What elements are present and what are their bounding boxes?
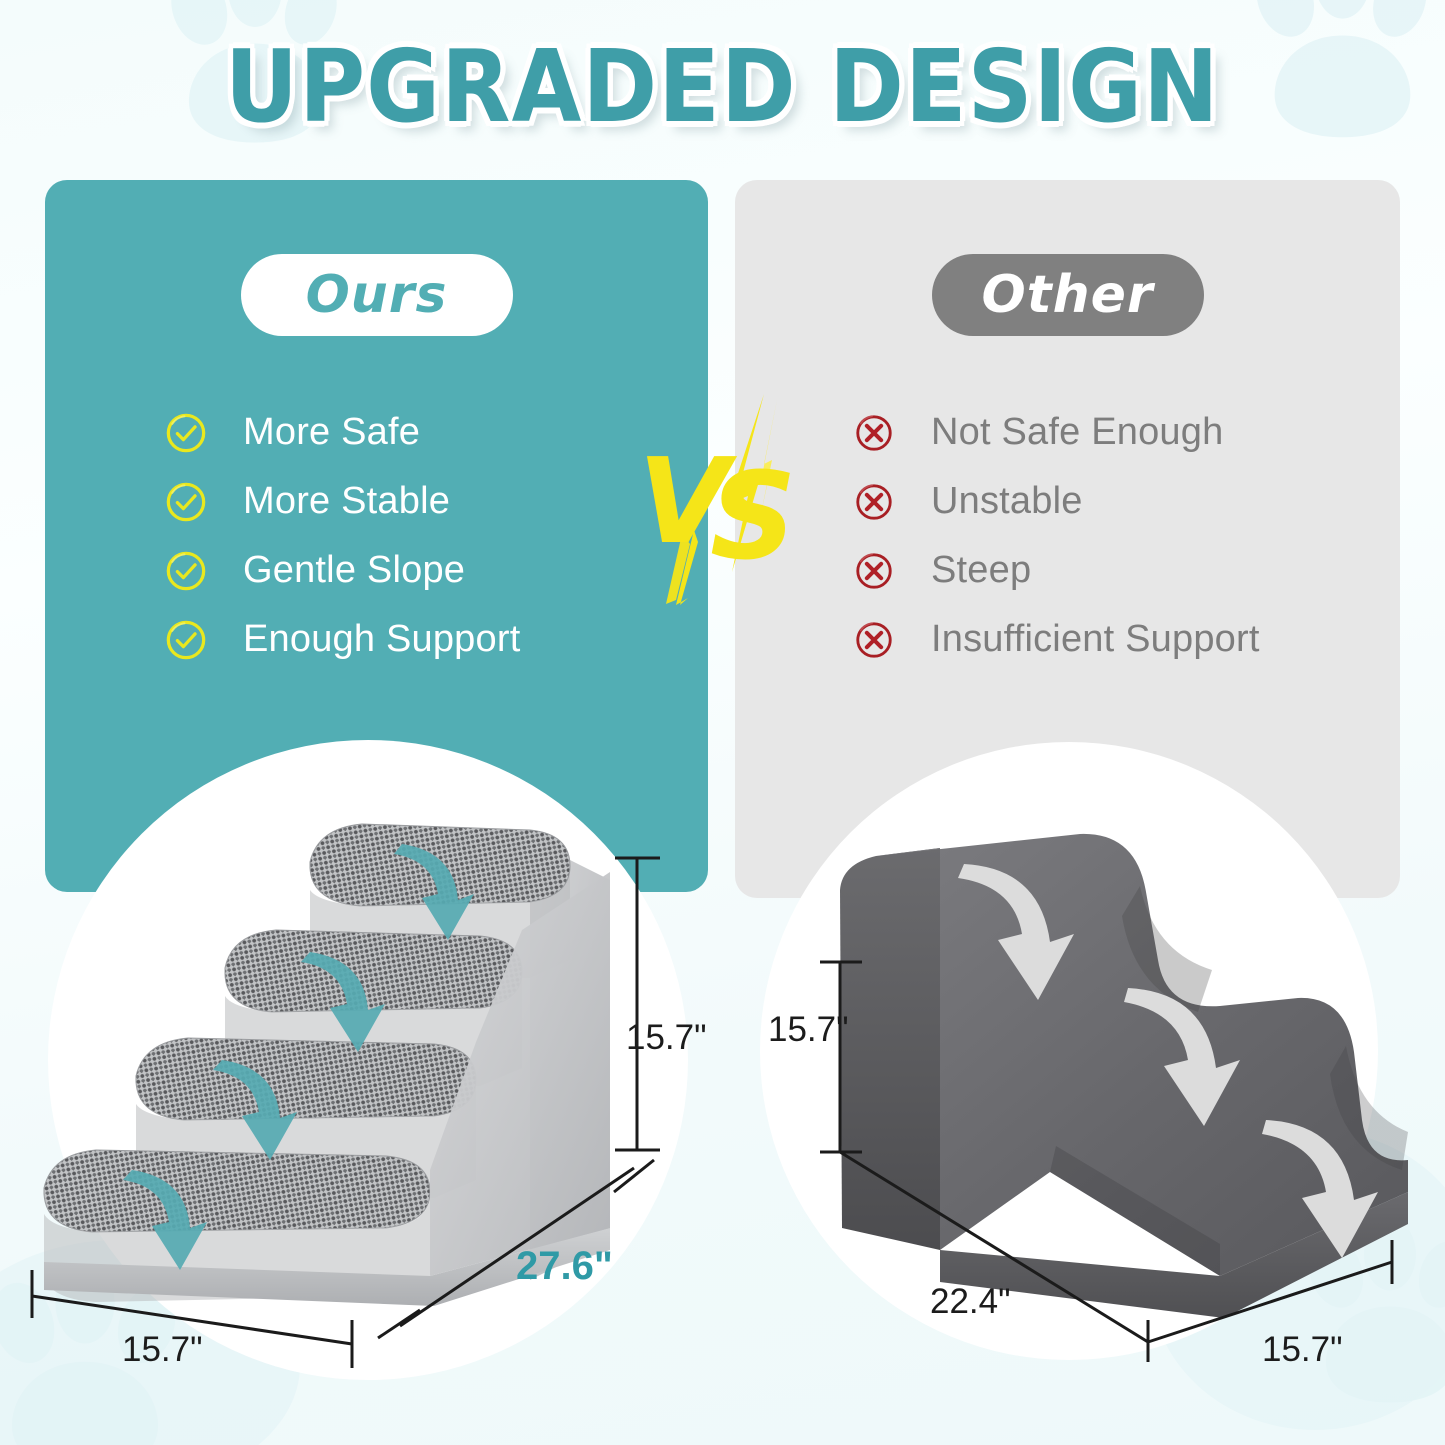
feature-row: More Safe — [45, 398, 708, 467]
feature-label: Enough Support — [243, 618, 520, 661]
feature-row: Gentle Slope — [45, 536, 708, 605]
feature-row: Not Safe Enough — [735, 398, 1400, 467]
badge-ours: Ours — [241, 254, 513, 336]
x-circle-icon — [853, 550, 895, 592]
dimension-label-other-depth: 22.4" — [930, 1282, 1011, 1322]
dimension-label-ours-depth: 27.6" — [516, 1244, 613, 1289]
dimension-label-ours-height: 15.7" — [626, 1018, 707, 1058]
vs-label: VS — [636, 392, 638, 393]
dimension-label-other-height: 15.7" — [768, 1010, 849, 1050]
x-circle-icon — [853, 481, 895, 523]
feature-label: Gentle Slope — [243, 549, 465, 592]
feature-list-ours: More Safe More Stable Gentle Slope — [45, 398, 708, 674]
feature-label: Not Safe Enough — [931, 411, 1223, 454]
badge-other-label: Other — [982, 265, 1154, 325]
dimension-label-ours-width: 15.7" — [122, 1330, 203, 1370]
feature-label: Steep — [931, 549, 1031, 592]
dimension-label-other-width: 15.7" — [1262, 1330, 1343, 1370]
product-image-ours — [10, 810, 720, 1410]
page-title: UPGRADED DESIGN — [225, 29, 1220, 146]
infographic-canvas: UPGRADED DESIGN Ours More Safe — [0, 0, 1445, 1445]
feature-row: Unstable — [735, 467, 1400, 536]
feature-row: More Stable — [45, 467, 708, 536]
product-image-other — [750, 820, 1410, 1380]
check-circle-icon — [165, 550, 207, 592]
feature-label: Unstable — [931, 480, 1083, 523]
feature-row: Enough Support — [45, 605, 708, 674]
check-circle-icon — [165, 481, 207, 523]
x-circle-icon — [853, 619, 895, 661]
feature-label: More Safe — [243, 411, 420, 454]
feature-label: More Stable — [243, 480, 450, 523]
feature-label: Insufficient Support — [931, 618, 1260, 661]
badge-ours-label: Ours — [306, 265, 448, 325]
feature-row: Insufficient Support — [735, 605, 1400, 674]
svg-text:S: S — [710, 448, 796, 587]
x-circle-icon — [853, 412, 895, 454]
check-circle-icon — [165, 619, 207, 661]
feature-row: Steep — [735, 536, 1400, 605]
vs-badge: V S VS — [636, 392, 816, 607]
page-title-container: UPGRADED DESIGN — [0, 38, 1445, 137]
feature-list-other: Not Safe Enough Unstable Steep — [735, 398, 1400, 674]
badge-other: Other — [932, 254, 1204, 336]
check-circle-icon — [165, 412, 207, 454]
